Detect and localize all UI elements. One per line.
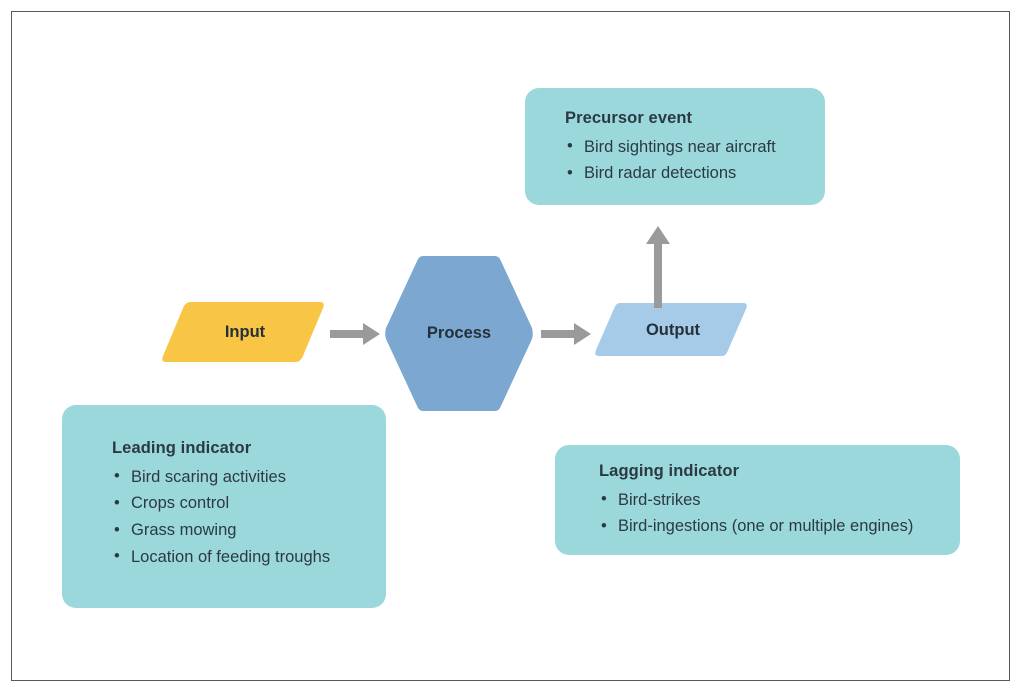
bullet-icon: • bbox=[567, 160, 573, 187]
list-item-label: Crops control bbox=[131, 494, 229, 512]
list-item: • Bird radar detections bbox=[565, 160, 825, 187]
list-item-label: Bird sightings near aircraft bbox=[584, 138, 776, 156]
arrow-input-to-process bbox=[330, 318, 386, 350]
list-item: • Grass mowing bbox=[112, 517, 386, 544]
bullet-icon: • bbox=[114, 490, 120, 517]
leading-indicator-list: • Bird scaring activities • Crops contro… bbox=[112, 464, 386, 571]
lagging-indicator-list: • Bird-strikes • Bird-ingestions (one or… bbox=[599, 487, 960, 540]
list-item-label: Location of feeding troughs bbox=[131, 548, 330, 566]
bullet-icon: • bbox=[114, 517, 120, 544]
list-item-label: Grass mowing bbox=[131, 521, 236, 539]
input-node: Input bbox=[160, 298, 326, 366]
precursor-event-panel: Precursor event • Bird sightings near ai… bbox=[525, 88, 825, 205]
arrow-process-to-output bbox=[541, 318, 597, 350]
input-label: Input bbox=[225, 323, 265, 342]
output-label: Output bbox=[646, 321, 700, 340]
process-label: Process bbox=[427, 324, 491, 343]
bullet-icon: • bbox=[114, 543, 120, 570]
list-item-label: Bird scaring activities bbox=[131, 468, 286, 486]
bullet-icon: • bbox=[114, 463, 120, 490]
list-item: • Crops control bbox=[112, 490, 386, 517]
output-node: Output bbox=[593, 300, 749, 360]
list-item-label: Bird-strikes bbox=[618, 491, 701, 509]
precursor-event-title: Precursor event bbox=[565, 108, 825, 129]
arrow-right-icon bbox=[330, 318, 386, 350]
arrow-up-icon bbox=[640, 218, 676, 308]
list-item: • Location of feeding troughs bbox=[112, 544, 386, 571]
list-item-label: Bird radar detections bbox=[584, 164, 736, 182]
leading-indicator-title: Leading indicator bbox=[112, 438, 386, 459]
arrow-output-to-precursor bbox=[640, 218, 676, 308]
bullet-icon: • bbox=[601, 486, 607, 513]
bullet-icon: • bbox=[601, 513, 607, 540]
list-item-label: Bird-ingestions (one or multiple engines… bbox=[618, 517, 913, 535]
diagram-canvas: Precursor event • Bird sightings near ai… bbox=[0, 0, 1024, 695]
bullet-icon: • bbox=[567, 133, 573, 160]
list-item: • Bird scaring activities bbox=[112, 464, 386, 491]
lagging-indicator-title: Lagging indicator bbox=[599, 461, 960, 482]
list-item: • Bird-ingestions (one or multiple engin… bbox=[599, 513, 960, 540]
lagging-indicator-panel: Lagging indicator • Bird-strikes • Bird-… bbox=[555, 445, 960, 555]
list-item: • Bird sightings near aircraft bbox=[565, 134, 825, 161]
precursor-event-list: • Bird sightings near aircraft • Bird ra… bbox=[565, 134, 825, 187]
arrow-right-icon bbox=[541, 318, 597, 350]
process-node: Process bbox=[383, 252, 535, 415]
leading-indicator-panel: Leading indicator • Bird scaring activit… bbox=[62, 405, 386, 608]
list-item: • Bird-strikes bbox=[599, 487, 960, 514]
